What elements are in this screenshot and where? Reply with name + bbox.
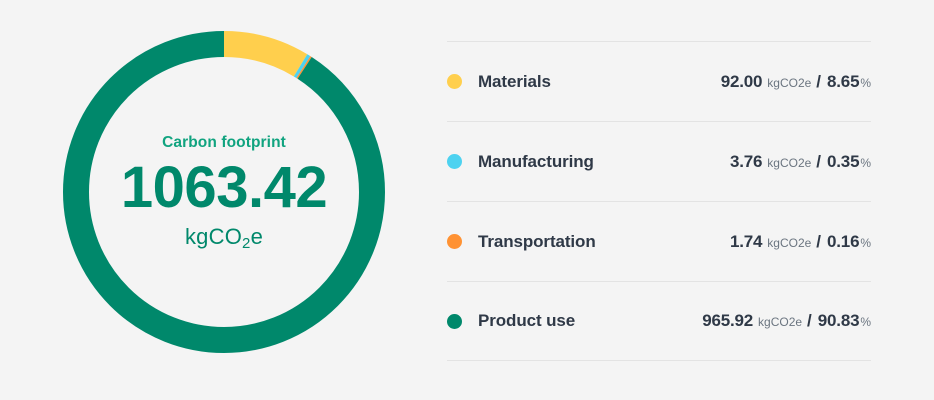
- legend-percent: 8.65: [827, 72, 859, 92]
- legend-separator: /: [816, 72, 821, 92]
- legend-label: Transportation: [478, 232, 596, 252]
- legend-row-materials[interactable]: Materials 92.00 kgCO2e / 8.65 %: [447, 41, 871, 121]
- donut-segment-product-use[interactable]: [76, 44, 372, 340]
- carbon-footprint-donut-chart: Carbon footprint 1063.42 kgCO2e: [63, 31, 385, 353]
- legend-amount: 1.74: [730, 232, 762, 252]
- legend-dot-icon: [447, 234, 462, 249]
- legend-left-product-use: Product use: [447, 311, 702, 331]
- legend-dot-icon: [447, 74, 462, 89]
- legend-percent: 0.35: [827, 152, 859, 172]
- legend-separator: /: [807, 311, 812, 331]
- legend-value-materials: 92.00 kgCO2e / 8.65 %: [721, 72, 871, 92]
- legend-unit: kgCO2e: [767, 236, 811, 250]
- legend-dot-icon: [447, 314, 462, 329]
- legend-amount: 92.00: [721, 72, 763, 92]
- legend-amount: 965.92: [702, 311, 753, 331]
- legend-left-transportation: Transportation: [447, 232, 730, 252]
- legend-percent: 0.16: [827, 232, 859, 252]
- legend-unit: kgCO2e: [758, 315, 802, 329]
- legend-unit: kgCO2e: [767, 156, 811, 170]
- legend-separator: /: [816, 232, 821, 252]
- legend-left-materials: Materials: [447, 72, 721, 92]
- legend-percent: 90.83: [818, 311, 860, 331]
- legend-value-manufacturing: 3.76 kgCO2e / 0.35 %: [730, 152, 871, 172]
- legend-left-manufacturing: Manufacturing: [447, 152, 730, 172]
- legend-percent-sign: %: [860, 156, 871, 170]
- legend-amount: 3.76: [730, 152, 762, 172]
- carbon-footprint-legend: Materials 92.00 kgCO2e / 8.65 % Manufact…: [447, 41, 871, 361]
- legend-label: Product use: [478, 311, 575, 331]
- legend-label: Manufacturing: [478, 152, 594, 172]
- legend-percent-sign: %: [860, 315, 871, 329]
- donut-svg: [63, 31, 385, 353]
- legend-label: Materials: [478, 72, 551, 92]
- carbon-footprint-panel: Carbon footprint 1063.42 kgCO2e Material…: [0, 0, 934, 400]
- legend-row-transportation[interactable]: Transportation 1.74 kgCO2e / 0.16 %: [447, 201, 871, 281]
- legend-value-transportation: 1.74 kgCO2e / 0.16 %: [730, 232, 871, 252]
- legend-value-product-use: 965.92 kgCO2e / 90.83 %: [702, 311, 871, 331]
- legend-percent-sign: %: [860, 236, 871, 250]
- legend-row-manufacturing[interactable]: Manufacturing 3.76 kgCO2e / 0.35 %: [447, 121, 871, 201]
- legend-dot-icon: [447, 154, 462, 169]
- legend-percent-sign: %: [860, 76, 871, 90]
- legend-unit: kgCO2e: [767, 76, 811, 90]
- legend-separator: /: [816, 152, 821, 172]
- legend-row-product-use[interactable]: Product use 965.92 kgCO2e / 90.83 %: [447, 281, 871, 361]
